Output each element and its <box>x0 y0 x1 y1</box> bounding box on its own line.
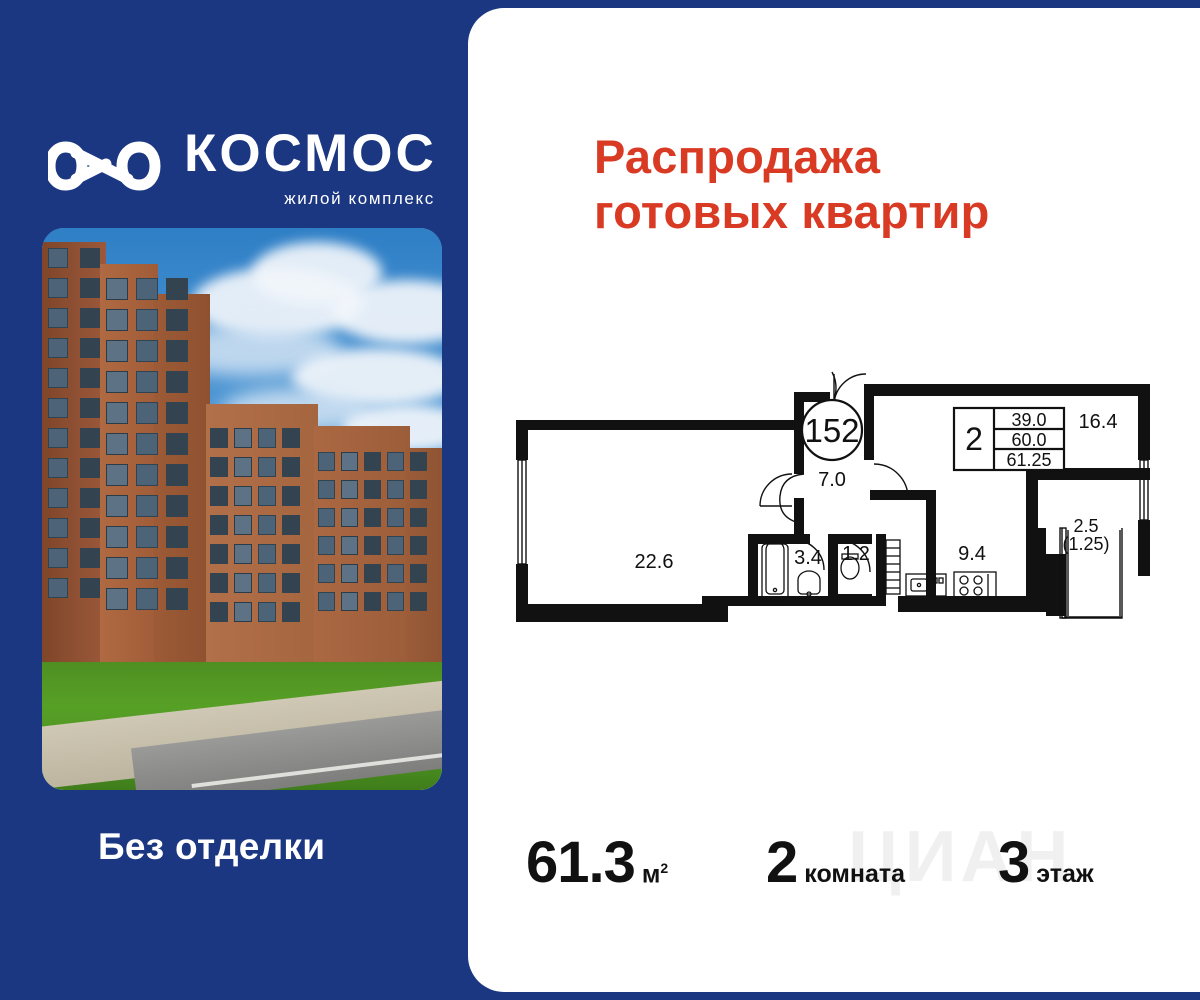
plan-info-table: 2 39.0 60.0 61.25 <box>954 408 1064 470</box>
stat-area-unit: м2 <box>642 861 668 887</box>
stat-floor: 3 этаж <box>998 834 1094 892</box>
apartment-number-badge: 152 <box>802 400 862 460</box>
room-label-bathroom: 3.4 <box>794 547 822 569</box>
promo-headline: Распродажа готовых квартир <box>594 130 1174 239</box>
left-brand-panel: КОСМОС жилой комплекс <box>0 0 480 1000</box>
room-label-living-room: 22.6 <box>635 551 674 573</box>
photo-windows-right <box>318 452 442 652</box>
stat-area-value: 61.3 <box>526 834 635 892</box>
apartment-number: 152 <box>804 412 859 449</box>
stat-rooms: 2 комната <box>766 834 905 892</box>
promo-headline-line2: готовых квартир <box>594 185 1174 240</box>
brand-logo: КОСМОС жилой комплекс <box>48 118 448 214</box>
room-label-balcony-coef: (1.25) <box>1062 534 1109 554</box>
brand-subtitle: жилой комплекс <box>184 190 437 207</box>
stat-rooms-unit: комната <box>804 862 905 887</box>
apartment-floorplan: 152 2 39.0 60.0 61.25 22.6 7.0 3.4 1.2 9… <box>502 368 1182 688</box>
info-total-area: 60.0 <box>1011 430 1046 450</box>
right-content-panel: Распродажа готовых квартир <box>468 8 1200 992</box>
room-label-bedroom: 16.4 <box>1079 411 1118 433</box>
room-label-kitchen: 9.4 <box>958 543 986 565</box>
promo-headline-line1: Распродажа <box>594 130 1174 185</box>
brand-text: КОСМОС жилой комплекс <box>184 125 437 207</box>
floorplan-container: 152 2 39.0 60.0 61.25 22.6 7.0 3.4 1.2 9… <box>502 368 1182 688</box>
building-photo <box>42 228 442 790</box>
info-rooms: 2 <box>965 421 983 457</box>
finish-caption: Без отделки <box>98 826 325 868</box>
apartment-stats: ЦИАН 61.3 м2 2 комната 3 этаж <box>468 814 1200 910</box>
infinity-icon <box>48 131 166 201</box>
room-label-balcony: 2.5 <box>1073 516 1098 536</box>
stat-area: 61.3 м2 <box>526 834 668 892</box>
stat-floor-value: 3 <box>998 834 1029 892</box>
photo-windows-tower <box>106 278 206 646</box>
stat-floor-unit: этаж <box>1036 862 1093 887</box>
room-label-wc: 1.2 <box>842 543 870 565</box>
info-living-area: 39.0 <box>1011 410 1046 430</box>
info-total-with-balcony: 61.25 <box>1006 450 1051 470</box>
room-label-hall: 7.0 <box>818 469 846 491</box>
stat-rooms-value: 2 <box>766 834 797 892</box>
photo-windows-mid <box>210 428 314 650</box>
brand-wordmark: КОСМОС <box>184 127 437 180</box>
photo-windows-tower-side <box>42 248 102 640</box>
